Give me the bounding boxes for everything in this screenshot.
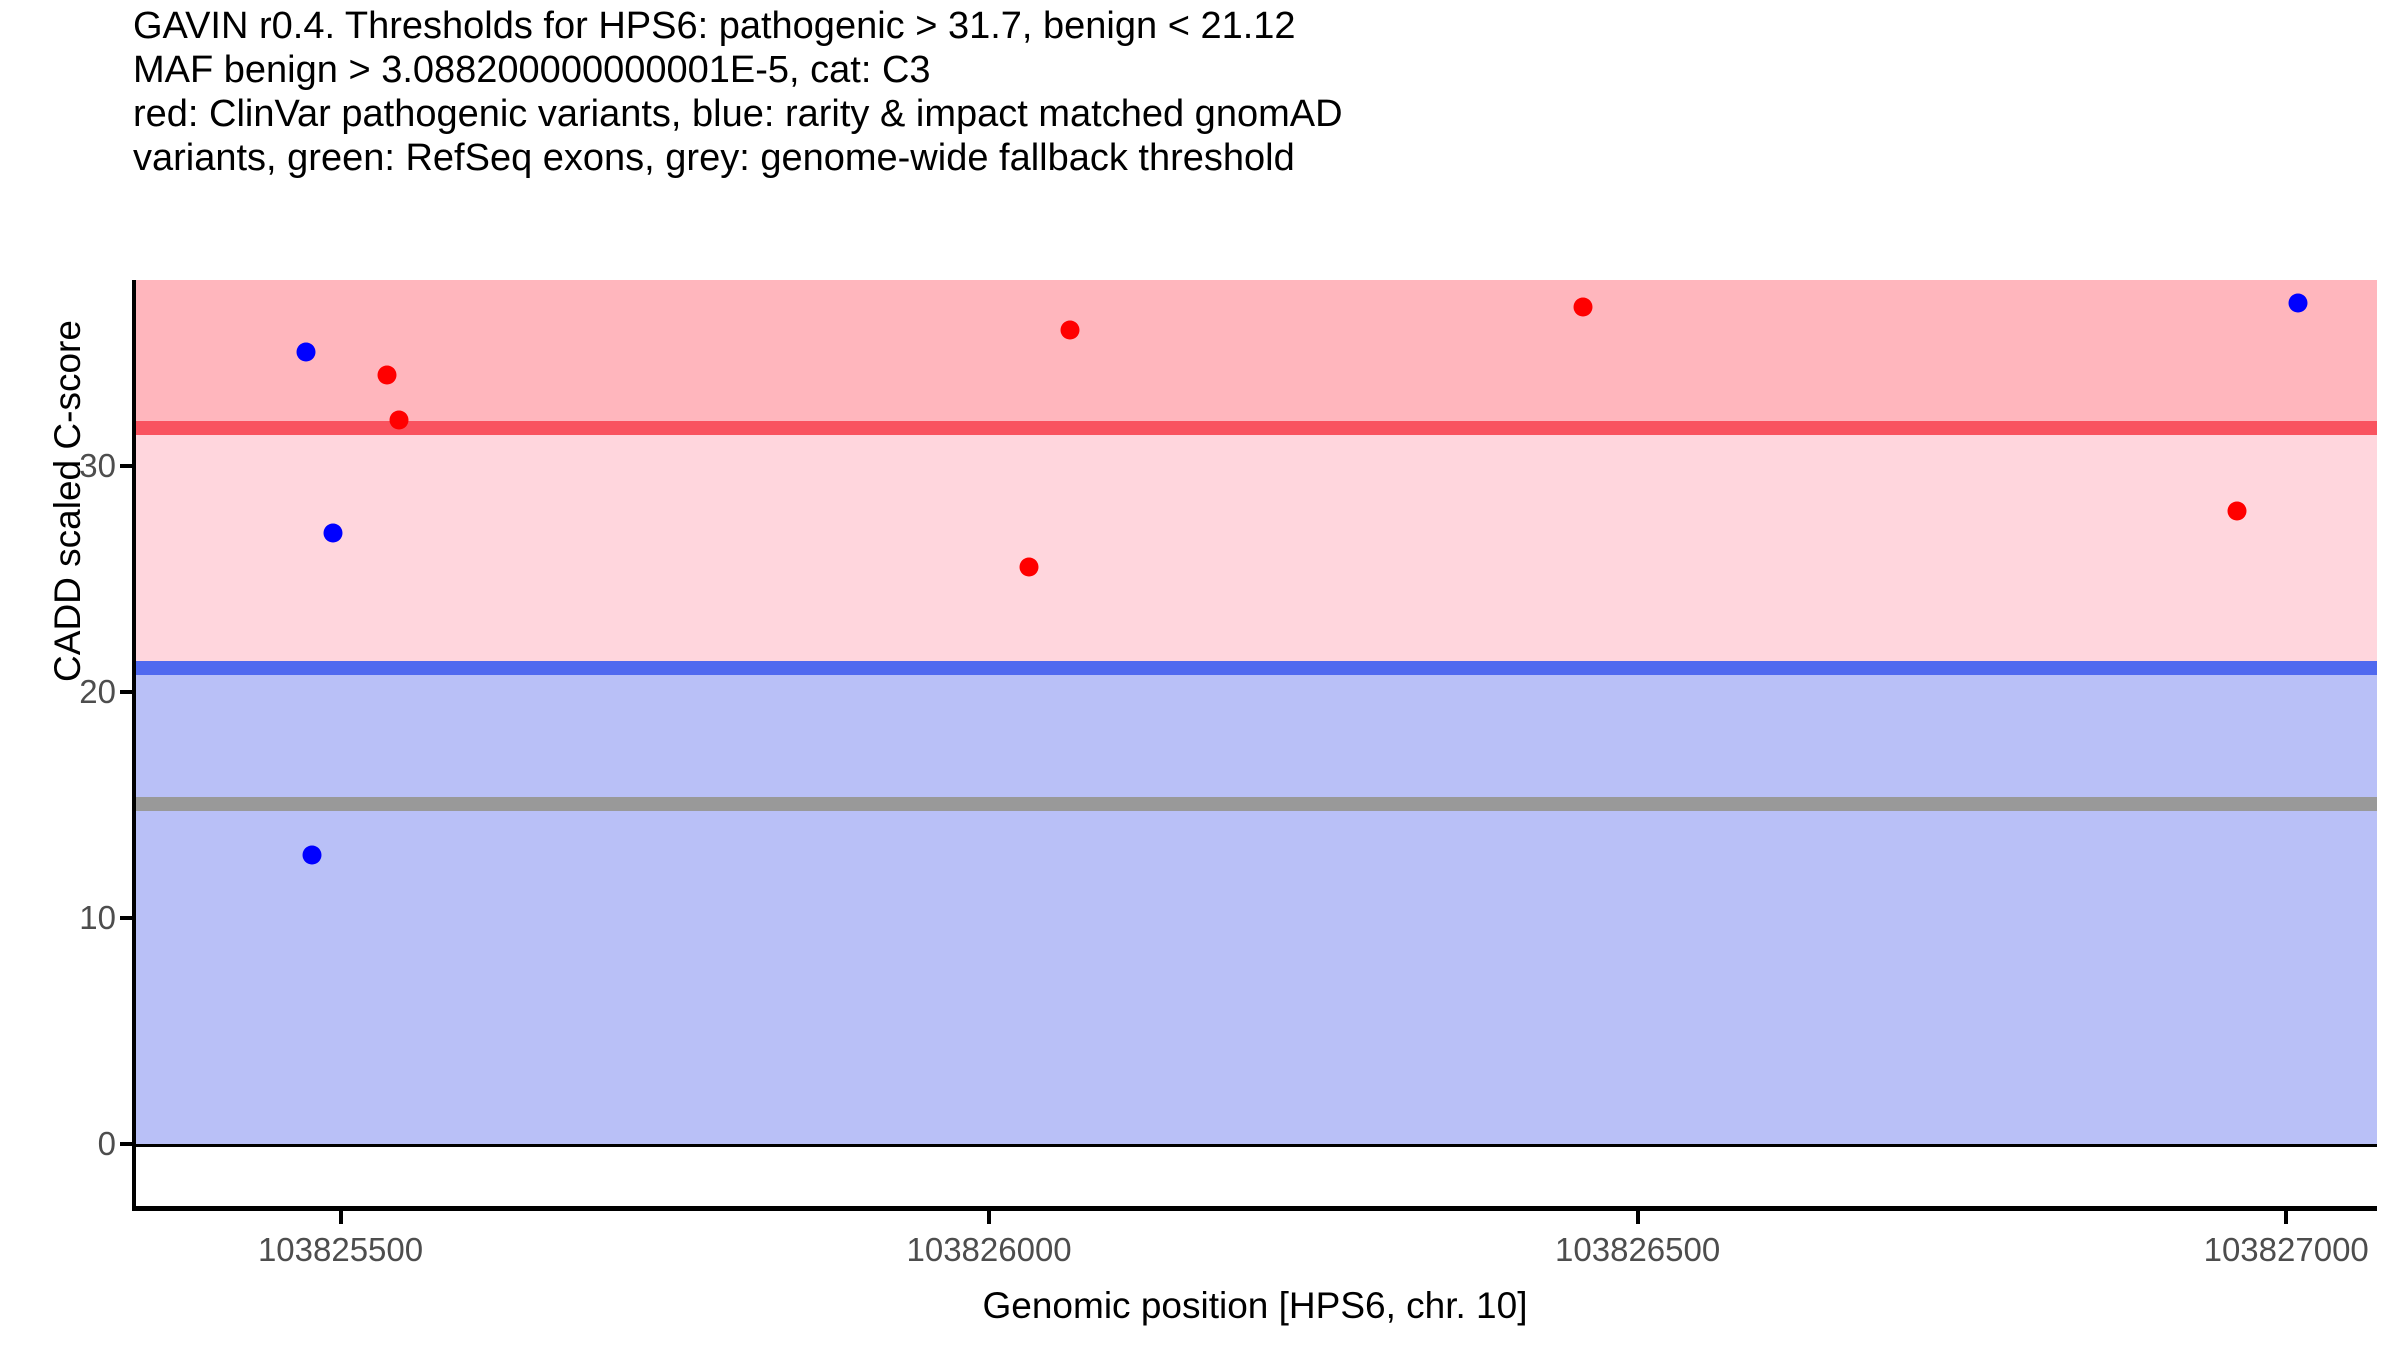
data-point	[2288, 293, 2307, 312]
pathogenic-threshold-line	[133, 421, 2377, 435]
x-tick-mark	[987, 1211, 991, 1224]
y-axis-line	[132, 280, 136, 1210]
data-point	[296, 343, 315, 362]
y-tick-mark	[120, 916, 133, 920]
data-point	[1574, 298, 1593, 317]
data-point	[1020, 558, 1039, 577]
data-point	[378, 366, 397, 385]
data-point	[323, 524, 342, 543]
pathogenic-band	[133, 280, 2377, 421]
x-tick-label: 103826500	[1555, 1231, 1720, 1269]
chart-title-line-4: variants, green: RefSeq exons, grey: gen…	[133, 136, 2373, 180]
plot-panel	[133, 280, 2377, 1185]
y-tick-mark	[120, 690, 133, 694]
chart-title-line-2: MAF benign > 3.088200000000001E-5, cat: …	[133, 48, 2373, 92]
y-tick-mark	[120, 1142, 133, 1146]
chart-title-line-1: GAVIN r0.4. Thresholds for HPS6: pathoge…	[133, 4, 2373, 48]
x-tick-mark	[2284, 1211, 2288, 1224]
benign-threshold-line	[133, 661, 2377, 675]
zero-baseline	[133, 1144, 2377, 1147]
x-tick-label: 103825500	[258, 1231, 423, 1269]
y-axis-title: CADD scaled C-score	[47, 171, 89, 831]
y-tick-label-text: 10	[79, 899, 116, 937]
data-point	[303, 845, 322, 864]
chart-title-line-3: red: ClinVar pathogenic variants, blue: …	[133, 92, 2373, 136]
x-tick-label: 103826000	[906, 1231, 1071, 1269]
y-tick-mark	[120, 464, 133, 468]
vous-band	[133, 435, 2377, 661]
data-point	[1060, 320, 1079, 339]
x-tick-mark	[339, 1211, 343, 1224]
x-tick-mark	[1636, 1211, 1640, 1224]
x-tick-label: 103827000	[2204, 1231, 2369, 1269]
benign-band-upper	[133, 675, 2377, 797]
data-point	[2227, 501, 2246, 520]
y-tick-label-text: 0	[98, 1125, 116, 1163]
chart-root: GAVIN r0.4. Thresholds for HPS6: pathoge…	[0, 0, 2400, 1350]
benign-band-lower	[133, 811, 2377, 1145]
data-point	[389, 411, 408, 430]
x-axis-line	[132, 1206, 2377, 1211]
genome-wide-fallback-line	[133, 797, 2377, 811]
chart-title-block: GAVIN r0.4. Thresholds for HPS6: pathoge…	[133, 4, 2373, 180]
x-axis-title: Genomic position [HPS6, chr. 10]	[133, 1285, 2377, 1327]
